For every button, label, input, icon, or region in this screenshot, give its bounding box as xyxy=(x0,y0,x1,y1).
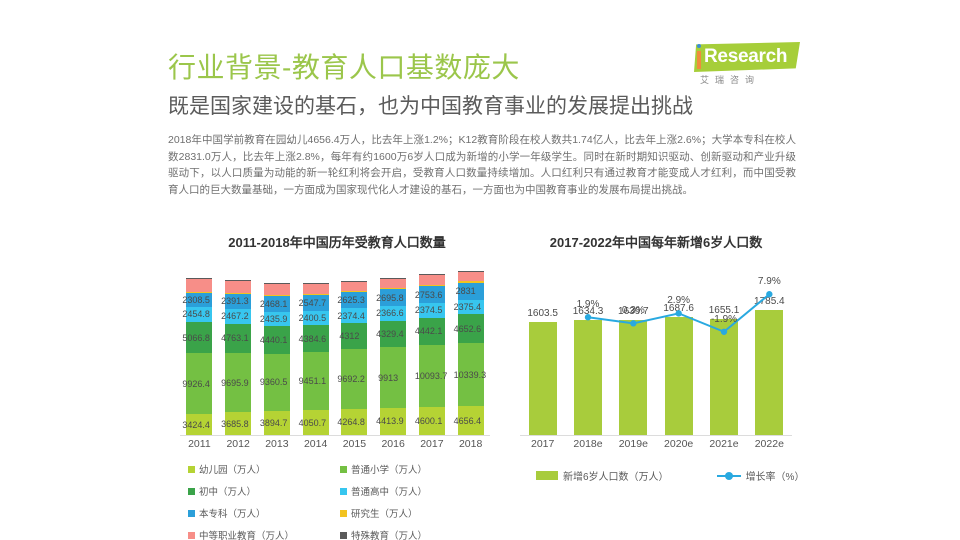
bar-value-label: 4600.1 xyxy=(415,416,443,426)
logo-i-dot-icon xyxy=(697,44,701,48)
bar-segment xyxy=(419,275,445,285)
legend-label: 初中（万人） xyxy=(199,484,256,498)
bar-value-label: 2400.5 xyxy=(299,313,327,323)
bar-value-label: 10339.3 xyxy=(454,370,487,380)
stacked-bar: 3685.89695.94763.12467.22391.3 xyxy=(225,280,251,435)
left-chart-plot-area: 3424.49926.45066.82454.82308.53685.89695… xyxy=(180,262,490,436)
bar-segment: 3424.4 xyxy=(186,414,212,435)
bar-segment: 4652.6 xyxy=(458,314,484,343)
legend-swatch-icon xyxy=(188,466,195,473)
legend-item[interactable]: 中等职业教育（万人） xyxy=(188,528,340,540)
bar-segment xyxy=(225,293,251,294)
bar-segment xyxy=(380,288,406,289)
x-tick-label: 2019e xyxy=(610,438,656,450)
bar-segment xyxy=(225,280,251,293)
bar-segment: 2467.2 xyxy=(225,309,251,324)
bar-value-label: 2695.8 xyxy=(376,293,404,303)
bar-value-label: 9451.1 xyxy=(299,376,327,386)
bar-value-label: 3685.8 xyxy=(221,419,249,429)
bar-segment: 2375.4 xyxy=(458,300,484,315)
stacked-bar: 4050.79451.14384.62400.52547.7 xyxy=(303,283,329,436)
bar-segment: 4050.7 xyxy=(303,410,329,435)
bar-segment: 2308.5 xyxy=(186,293,212,307)
bar-segment: 10093.7 xyxy=(419,345,445,407)
bar-value-label: 9360.5 xyxy=(260,377,288,387)
bar-value-label: 4312 xyxy=(339,331,359,341)
x-tick-label: 2013 xyxy=(257,438,297,450)
left-chart-x-axis: 20112012201320142015201620172018 xyxy=(180,438,490,454)
bar-value-label: 2391.3 xyxy=(221,296,249,306)
right-chart-plot-area: 1603.51634.31639.71687.61655.11785.41.9%… xyxy=(520,262,792,436)
bar-value-label: 9695.9 xyxy=(221,378,249,388)
iresearch-logo: Research 艾瑞咨询 xyxy=(680,40,802,90)
bar-value-label: 2308.5 xyxy=(182,295,210,305)
legend-item-line[interactable]: 增长率（%） xyxy=(717,468,805,483)
bar-segment: 4264.8 xyxy=(341,409,367,435)
bar-value-label: 2374.5 xyxy=(415,305,443,315)
bar-value-label: 4763.1 xyxy=(221,333,249,343)
bar-segment xyxy=(303,283,329,294)
bar-segment: 9926.4 xyxy=(186,353,212,414)
bar-segment: 2366.6 xyxy=(380,306,406,321)
bar-segment: 4413.9 xyxy=(380,408,406,435)
x-tick-label: 2017 xyxy=(520,438,566,450)
bar-value-label: 2375.4 xyxy=(454,302,482,312)
bar-value-label: 2467.2 xyxy=(221,311,249,321)
legend-label: 研究生（万人） xyxy=(351,506,418,520)
bar-value-label: 2753.6 xyxy=(415,290,443,300)
bar-segment xyxy=(380,278,406,288)
x-tick-label: 2016 xyxy=(373,438,413,450)
bar-segment: 9692.2 xyxy=(341,349,367,408)
bar-segment: 4329.4 xyxy=(380,321,406,348)
legend-swatch-icon xyxy=(340,532,347,539)
legend-label: 幼儿园（万人） xyxy=(199,462,266,476)
legend-swatch-icon xyxy=(340,488,347,495)
bar-value-label: 2831 xyxy=(456,286,476,296)
stacked-bar: 3894.79360.54440.12435.92468.1 xyxy=(264,283,290,435)
bar-segment: 3685.8 xyxy=(225,412,251,435)
logo-i-stem-icon xyxy=(697,51,701,69)
bar-segment: 9695.9 xyxy=(225,353,251,412)
stacked-bar: 4600.110093.74442.12374.52753.6 xyxy=(419,274,445,435)
bar-value-label: 3424.4 xyxy=(182,420,210,430)
x-tick-label: 2015 xyxy=(334,438,374,450)
stacked-bar: 4656.410339.34652.62375.42831 xyxy=(458,271,484,435)
bar-value-label: 4413.9 xyxy=(376,416,404,426)
bar-value-label: 2468.1 xyxy=(260,299,288,309)
bar-value-label: 4652.6 xyxy=(454,324,482,334)
bar-segment: 4440.1 xyxy=(264,326,290,353)
left-chart-legend: 幼儿园（万人）普通小学（万人）初中（万人）普通高中（万人）本专科（万人）研究生（… xyxy=(188,462,498,540)
bar-value-label: 3894.7 xyxy=(260,418,288,428)
bar-segment: 2831 xyxy=(458,283,484,300)
bar-value-label: 2366.6 xyxy=(376,308,404,318)
bar-segment xyxy=(264,283,290,295)
bar-segment: 9913 xyxy=(380,347,406,408)
bar-segment xyxy=(186,278,212,292)
bar-value-label: 2625.3 xyxy=(337,295,365,305)
x-tick-label: 2012 xyxy=(218,438,258,450)
x-tick-label: 2011 xyxy=(179,438,219,450)
legend-label: 本专科（万人） xyxy=(199,506,266,520)
bar-value-label: 2454.8 xyxy=(182,309,210,319)
bar-value-label: 4264.8 xyxy=(337,417,365,427)
bar-value-label: 4384.6 xyxy=(299,334,327,344)
bar-segment: 2400.5 xyxy=(303,311,329,326)
bar-segment: 2547.7 xyxy=(303,295,329,311)
bar-value-label: 4656.4 xyxy=(454,416,482,426)
bar-value-label: 9692.2 xyxy=(337,374,365,384)
bar-segment: 3894.7 xyxy=(264,411,290,435)
bar-segment xyxy=(458,271,484,281)
bar-segment: 2391.3 xyxy=(225,294,251,309)
bar-value-label: 4050.7 xyxy=(299,418,327,428)
line-point-label: 2.9% xyxy=(651,295,707,306)
bar-segment: 4312 xyxy=(341,323,367,349)
bar-segment: 2625.3 xyxy=(341,292,367,308)
bar-value-label: 4440.1 xyxy=(260,335,288,345)
bar-segment xyxy=(341,291,367,292)
logo-brand-text: Research xyxy=(704,46,787,68)
chart-new-six-year-old: 2017-2022年中国每年新增6岁人口数 1603.51634.31639.7… xyxy=(506,232,806,507)
bar-segment: 4763.1 xyxy=(225,324,251,353)
x-tick-label: 2017 xyxy=(412,438,452,450)
bar-segment: 2695.8 xyxy=(380,289,406,306)
bar-value-label: 2547.7 xyxy=(299,298,327,308)
bar-segment: 2454.8 xyxy=(186,307,212,322)
line-point-label: 7.9% xyxy=(741,276,797,287)
chart-education-population: 2011-2018年中国历年受教育人口数量 3424.49926.45066.8… xyxy=(172,232,502,507)
bar-value-label: 9913 xyxy=(378,373,398,383)
right-chart-legend: 新增6岁人口数（万人）增长率（%） xyxy=(536,468,804,483)
legend-label: 普通小学（万人） xyxy=(351,462,427,476)
bar-segment: 9451.1 xyxy=(303,352,329,410)
bar-value-label: 2374.4 xyxy=(337,311,365,321)
bar-segment: 9360.5 xyxy=(264,354,290,411)
legend-swatch-icon xyxy=(188,532,195,539)
bar-segment: 2374.4 xyxy=(341,308,367,323)
bar-value-label: 2435.9 xyxy=(260,314,288,324)
legend-label: 新增6岁人口数（万人） xyxy=(563,468,669,483)
x-tick-label: 2021e xyxy=(701,438,747,450)
legend-item[interactable]: 研究生（万人） xyxy=(340,506,492,520)
line-point-label: 0.3% xyxy=(605,305,661,316)
bar-segment: 10339.3 xyxy=(458,343,484,406)
bar-segment: 4384.6 xyxy=(303,325,329,352)
legend-swatch-icon xyxy=(188,488,195,495)
legend-item[interactable]: 普通高中（万人） xyxy=(340,484,492,498)
legend-item[interactable]: 特殊教育（万人） xyxy=(340,528,492,540)
x-tick-label: 2018 xyxy=(451,438,491,450)
bar-value-label: 5066.8 xyxy=(182,333,210,343)
bar-segment: 2753.6 xyxy=(419,286,445,303)
x-tick-label: 2014 xyxy=(296,438,336,450)
bar-segment: 4442.1 xyxy=(419,318,445,345)
bar-value-label: 4329.4 xyxy=(376,329,404,339)
chart-title-left: 2011-2018年中国历年受教育人口数量 xyxy=(172,232,502,251)
page-title: 行业背景-教育人口基数庞大 xyxy=(168,46,520,86)
page-subtitle: 既是国家建设的基石，也为中国教育事业的发展提出挑战 xyxy=(168,90,693,120)
legend-item[interactable]: 初中（万人） xyxy=(188,484,340,498)
legend-swatch-icon xyxy=(188,510,195,517)
legend-label: 特殊教育（万人） xyxy=(351,528,427,540)
legend-label: 中等职业教育（万人） xyxy=(199,528,294,540)
bar-value-label: 9926.4 xyxy=(182,379,210,389)
bar-segment: 2435.9 xyxy=(264,312,290,327)
bar-segment xyxy=(186,292,212,293)
legend-item[interactable]: 普通小学（万人） xyxy=(340,462,492,476)
stacked-bar: 3424.49926.45066.82454.82308.5 xyxy=(186,278,212,435)
growth-rate-line xyxy=(520,262,792,436)
legend-item[interactable]: 本专科（万人） xyxy=(188,506,340,520)
legend-item-bar[interactable]: 新增6岁人口数（万人） xyxy=(536,468,669,483)
chart-title-right: 2017-2022年中国每年新增6岁人口数 xyxy=(506,232,806,251)
bar-segment xyxy=(419,285,445,287)
bar-segment xyxy=(458,281,484,283)
bar-segment: 4656.4 xyxy=(458,406,484,435)
x-tick-label: 2022e xyxy=(746,438,792,450)
bar-segment: 5066.8 xyxy=(186,322,212,353)
legend-swatch-icon xyxy=(536,471,558,480)
legend-swatch-icon xyxy=(340,466,347,473)
body-paragraph: 2018年中国学前教育在园幼儿4656.4万人，比去年上涨1.2%；K12教育阶… xyxy=(168,132,796,198)
bar-segment: 2374.5 xyxy=(419,303,445,318)
bar-segment xyxy=(264,295,290,296)
logo-chinese-text: 艾瑞咨询 xyxy=(700,73,760,86)
legend-item[interactable]: 幼儿园（万人） xyxy=(188,462,340,476)
legend-label: 增长率（%） xyxy=(746,468,805,483)
x-tick-label: 2020e xyxy=(656,438,702,450)
bar-segment: 2468.1 xyxy=(264,296,290,311)
stacked-bar: 4413.999134329.42366.62695.8 xyxy=(380,278,406,435)
stacked-bar: 4264.89692.243122374.42625.3 xyxy=(341,281,367,435)
bar-value-label: 4442.1 xyxy=(415,326,443,336)
x-tick-label: 2018e xyxy=(565,438,611,450)
bar-segment xyxy=(303,294,329,295)
slide: 行业背景-教育人口基数庞大 既是国家建设的基石，也为中国教育事业的发展提出挑战 … xyxy=(0,0,960,540)
legend-swatch-icon xyxy=(340,510,347,517)
bar-segment: 4600.1 xyxy=(419,407,445,435)
bar-segment xyxy=(341,281,367,291)
line-point-label: -1.9% xyxy=(696,314,752,325)
bar-value-label: 10093.7 xyxy=(415,371,448,381)
legend-line-icon xyxy=(717,471,741,481)
legend-label: 普通高中（万人） xyxy=(351,484,427,498)
